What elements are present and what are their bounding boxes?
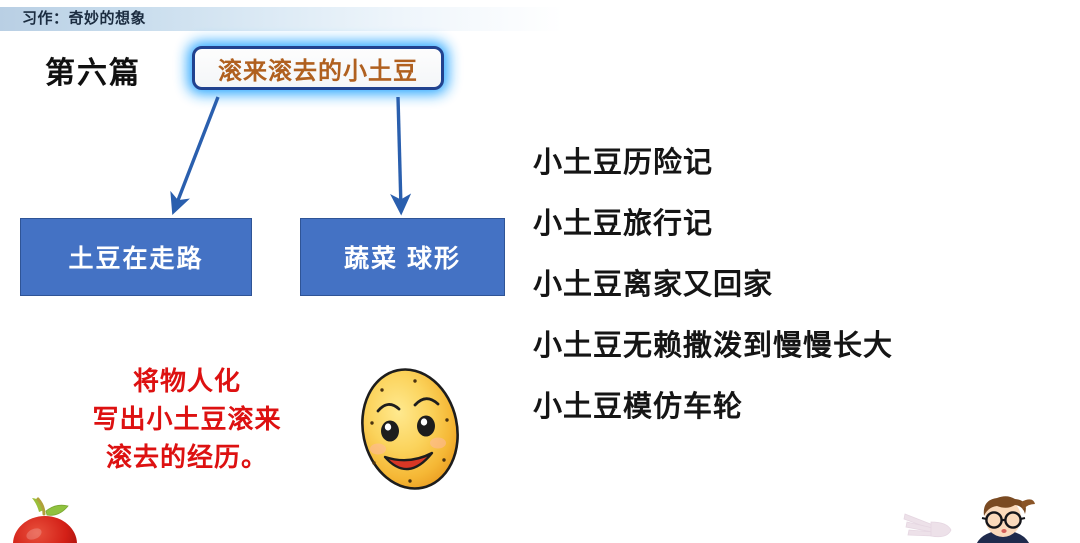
attribute-box-shape: 蔬菜 球形 — [300, 218, 505, 296]
idea-title-list: 小土豆历险记 小土豆旅行记 小土豆离家又回家 小土豆无赖撒泼到慢慢长大 小土豆模… — [533, 133, 1053, 438]
arrow-left — [175, 97, 218, 208]
instruction-block: 将物人化 写出小土豆滚来 滚去的经历。 — [42, 362, 332, 476]
attribute-box-walking: 土豆在走路 — [20, 218, 252, 296]
attribute-box-label: 蔬菜 球形 — [344, 239, 461, 275]
apple-icon — [6, 492, 86, 543]
attribute-box-label: 土豆在走路 — [68, 239, 203, 275]
topic-title-text: 滚来滚去的小土豆 — [218, 51, 418, 86]
idea-list-item: 小土豆模仿车轮 — [533, 377, 1053, 438]
instruction-line: 滚去的经历。 — [42, 438, 332, 476]
slide-canvas: 习作：奇妙的想象 第六篇 滚来滚去的小土豆 土豆在走路 蔬菜 球形 将物人化 写… — [0, 0, 1080, 543]
boy-avatar-icon — [963, 496, 1043, 543]
idea-list-item: 小土豆历险记 — [533, 133, 1053, 194]
topic-title-box: 滚来滚去的小土豆 — [188, 42, 448, 94]
idea-list-item: 小土豆离家又回家 — [533, 255, 1053, 316]
potato-mascot-icon — [352, 365, 468, 493]
idea-list-item: 小土豆旅行记 — [533, 194, 1053, 255]
topic-title-frame: 滚来滚去的小土豆 — [192, 46, 444, 90]
idea-list-item: 小土豆无赖撒泼到慢慢长大 — [533, 316, 1053, 377]
arrow-right — [398, 97, 401, 208]
instruction-line: 将物人化 — [42, 362, 332, 400]
header-title: 习作：奇妙的想象 — [22, 8, 146, 30]
chapter-label: 第六篇 — [45, 48, 141, 92]
instruction-line: 写出小土豆滚来 — [42, 400, 332, 438]
